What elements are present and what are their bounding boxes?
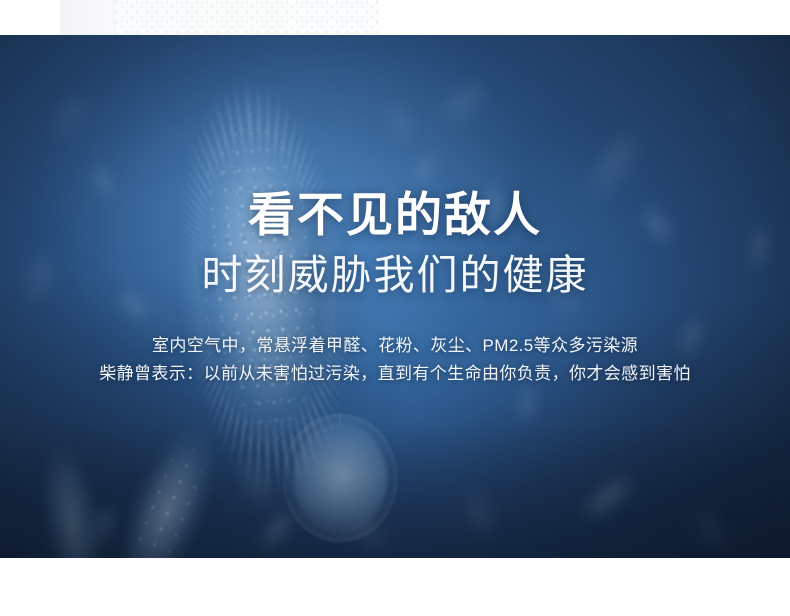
page-root: 看不见的敌人 时刻威胁我们的健康 室内空气中，常悬浮着甲醛、花粉、灰尘、PM2.…	[0, 0, 790, 616]
hero-body-line-1: 室内空气中，常悬浮着甲醛、花粉、灰尘、PM2.5等众多污染源	[0, 332, 790, 360]
bottom-white-strip	[0, 558, 790, 616]
top-panel-texture	[115, 0, 380, 35]
top-white-strip	[0, 0, 790, 35]
hero-body: 室内空气中，常悬浮着甲醛、花粉、灰尘、PM2.5等众多污染源 柴静曾表示：以前从…	[0, 332, 790, 388]
hero-title: 看不见的敌人	[0, 189, 790, 241]
hero-body-line-2: 柴静曾表示：以前从未害怕过污染，直到有个生命由你负责，你才会感到害怕	[0, 360, 790, 388]
hero-subtitle: 时刻威胁我们的健康	[0, 250, 790, 300]
hero-banner: 看不见的敌人 时刻威胁我们的健康 室内空气中，常悬浮着甲醛、花粉、灰尘、PM2.…	[0, 35, 790, 558]
hero-copy: 看不见的敌人 时刻威胁我们的健康 室内空气中，常悬浮着甲醛、花粉、灰尘、PM2.…	[0, 35, 790, 558]
